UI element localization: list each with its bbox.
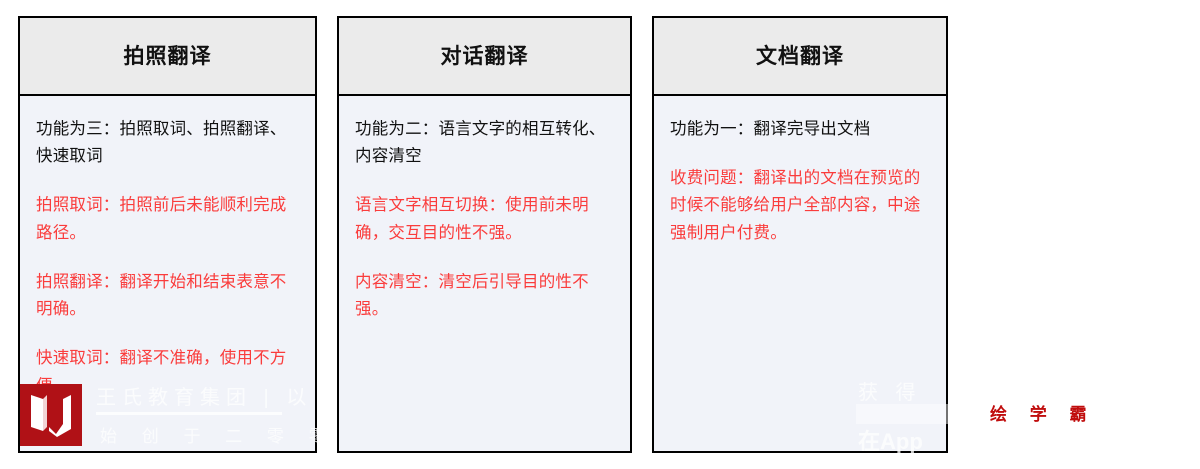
card-paragraph-intro: 功能为二：语言文字的相互转化、内容清空 <box>355 116 614 170</box>
feature-card-document-translation: 文档翻译 功能为一：翻译完导出文档 收费问题：翻译出的文档在预览的时候不能够给用… <box>652 16 948 453</box>
card-body: 功能为一：翻译完导出文档 收费问题：翻译出的文档在预览的时候不能够给用户全部内容… <box>654 96 946 451</box>
card-title: 对话翻译 <box>441 46 529 67</box>
card-paragraph-issue: 内容清空：清空后引导目的性不强。 <box>355 269 614 323</box>
canvas: 拍照翻译 功能为三：拍照取词、拍照翻译、快速取词 拍照取词：拍照前后未能顺利完成… <box>0 0 1200 469</box>
card-title: 拍照翻译 <box>124 46 212 67</box>
card-header: 文档翻译 <box>654 18 946 96</box>
card-paragraph-issue: 拍照取词：拍照前后未能顺利完成路径。 <box>36 192 299 246</box>
brand-watermark: 绘 学 霸 <box>990 400 1095 425</box>
watermark-rule <box>96 412 282 415</box>
card-paragraph-issue: 语言文字相互切换：使用前未明确，交互目的性不强。 <box>355 192 614 246</box>
card-header: 拍照翻译 <box>20 18 315 96</box>
card-body: 功能为二：语言文字的相互转化、内容清空 语言文字相互切换：使用前未明确，交互目的… <box>339 96 630 451</box>
card-paragraph-intro: 功能为一：翻译完导出文档 <box>670 116 930 143</box>
feature-card-dialogue-translation: 对话翻译 功能为二：语言文字的相互转化、内容清空 语言文字相互切换：使用前未明确… <box>337 16 632 453</box>
card-header: 对话翻译 <box>339 18 630 96</box>
card-paragraph-issue: 收费问题：翻译出的文档在预览的时候不能够给用户全部内容，中途强制用户付费。 <box>670 165 930 247</box>
card-title: 文档翻译 <box>756 46 844 67</box>
wangshi-logo-icon <box>20 384 82 446</box>
watermark-right-rule <box>856 404 968 424</box>
card-paragraph-issue: 拍照翻译：翻译开始和结束表意不明确。 <box>36 269 299 323</box>
card-paragraph-intro: 功能为三：拍照取词、拍照翻译、快速取词 <box>36 116 299 170</box>
